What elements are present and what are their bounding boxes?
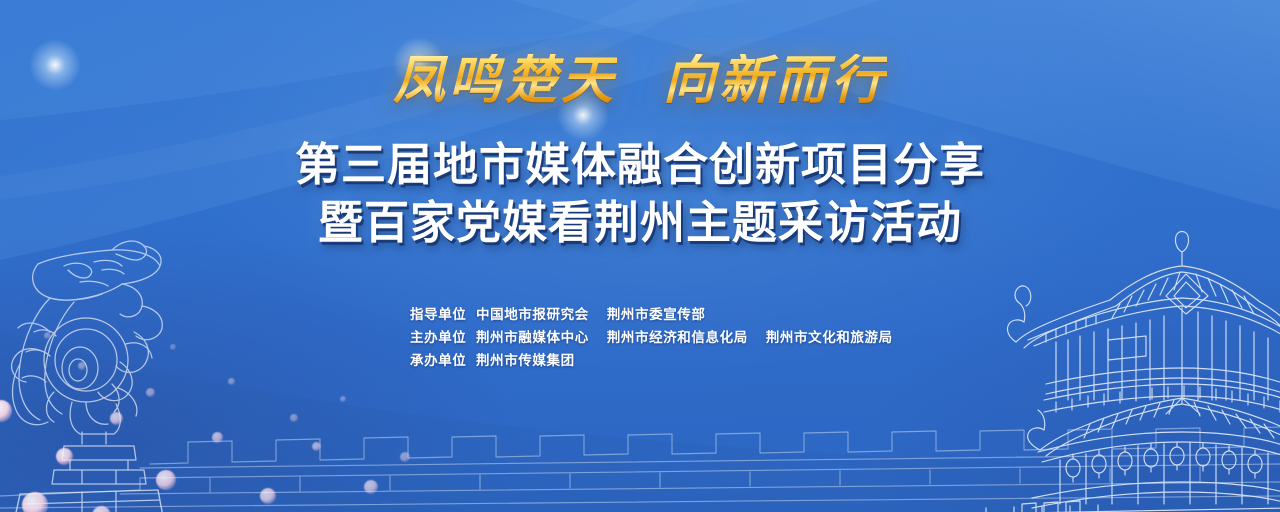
credit-org-name: 荆州市传媒集团 [476,352,575,370]
slogan-phrase-1: 凤鸣楚天 [393,54,617,109]
main-title: 第三届地市媒体融合创新项目分享 暨百家党媒看荆州主题采访活动 [0,136,1280,252]
sparkle-glow-icon [28,38,82,92]
credit-org-list: 中国地市报研究会荆州市委宣传部 [476,306,706,324]
credit-row: 承办单位荆州市传媒集团 [410,352,870,370]
banner-content: 凤鸣楚天 向新而行 第三届地市媒体融合创新项目分享 暨百家党媒看荆州主题采访活动… [0,0,1280,512]
credit-org-name: 荆州市文化和旅游局 [766,329,893,347]
credits-block: 指导单位中国地市报研究会荆州市委宣传部主办单位荆州市融媒体中心荆州市经济和信息化… [0,306,1280,370]
credit-org-name: 荆州市融媒体中心 [476,329,589,347]
credit-org-name: 荆州市经济和信息化局 [607,329,748,347]
credit-org-name: 中国地市报研究会 [476,306,589,324]
credit-role-label: 承办单位 [410,352,476,370]
credit-org-list: 荆州市融媒体中心荆州市经济和信息化局荆州市文化和旅游局 [476,329,893,347]
credit-org-name: 荆州市委宣传部 [607,306,706,324]
credit-role-label: 主办单位 [410,329,476,347]
credit-row: 主办单位荆州市融媒体中心荆州市经济和信息化局荆州市文化和旅游局 [410,329,870,347]
event-banner: 凤鸣楚天 向新而行 第三届地市媒体融合创新项目分享 暨百家党媒看荆州主题采访活动… [0,0,1280,512]
gold-slogan: 凤鸣楚天 向新而行 [0,54,1280,109]
main-title-line-2: 暨百家党媒看荆州主题采访活动 [0,194,1280,252]
credit-role-label: 指导单位 [410,306,476,324]
credits-rows: 指导单位中国地市报研究会荆州市委宣传部主办单位荆州市融媒体中心荆州市经济和信息化… [410,306,870,370]
slogan-phrase-2: 向新而行 [663,54,887,109]
main-title-line-1: 第三届地市媒体融合创新项目分享 [0,136,1280,194]
credit-org-list: 荆州市传媒集团 [476,352,575,370]
credit-row: 指导单位中国地市报研究会荆州市委宣传部 [410,306,870,324]
